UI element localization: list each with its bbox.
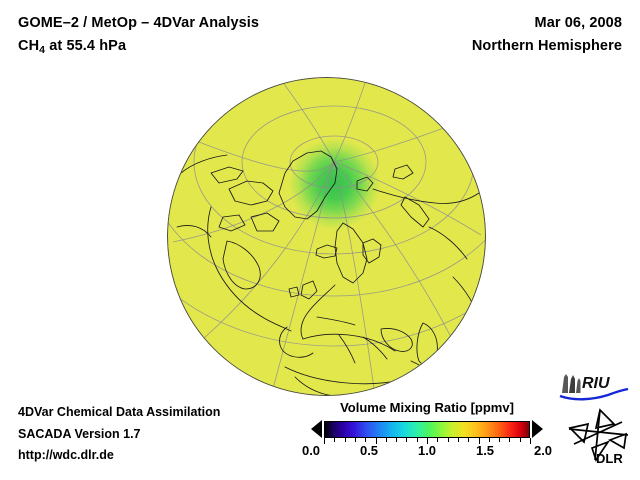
colorbar-tick-minor [458,438,459,442]
species-subscript: 4 [39,44,45,56]
riu-logo: RIU [558,371,630,401]
figure-canvas: GOME–2 / MetOp – 4DVar Analysis CH4 at 5… [0,0,640,480]
globe-disc [167,77,486,396]
dlr-wordmark: DLR [596,451,623,466]
dlr-logo: DLR [566,408,632,466]
colorbar-tick-minor [417,438,418,442]
footer-line-assimilation: 4DVar Chemical Data Assimilation [18,402,220,424]
colorbar-tick-minor [509,438,510,442]
colorbar-tick-label: 2.0 [534,443,552,458]
colorbar-tick-minor [448,438,449,442]
species-label: CH [18,38,39,54]
riu-wordmark: RIU [582,375,610,392]
species-pressure: at 55.4 hPa [45,38,126,54]
colorbar-tick-minor [334,438,335,442]
species-subtitle: CH4 at 55.4 hPa [18,35,259,59]
colorbar-tick-minor [365,438,366,442]
footer-credits: 4DVar Chemical Data Assimilation SACADA … [18,402,220,467]
colorbar-tick-labels: 0.00.51.01.52.0 [311,443,543,461]
header-left: GOME–2 / MetOp – 4DVar Analysis CH4 at 5… [18,12,259,59]
date-label: Mar 06, 2008 [472,12,622,35]
colorbar-row [311,420,543,439]
header-right: Mar 06, 2008 Northern Hemisphere [472,12,622,58]
globe-map [167,77,486,396]
colorbar-tick-label: 1.5 [476,443,494,458]
colorbar-tick-label: 1.0 [418,443,436,458]
page-title: GOME–2 / MetOp – 4DVar Analysis [18,12,259,35]
colorbar-tick-minor [499,438,500,442]
colorbar-tick-minor [396,438,397,442]
colorbar-gradient [324,421,530,438]
colorbar-tick-minor [520,438,521,442]
colorbar-tick-minor [355,438,356,442]
colorbar-tick-label: 0.5 [360,443,378,458]
colorbar-extend-min-icon [311,420,322,438]
footer-line-version: SACADA Version 1.7 [18,424,220,446]
colorbar-tick-minor [386,438,387,442]
riu-towers-icon [562,374,581,393]
globe-edge [167,77,486,396]
colorbar-tick-minor [345,438,346,442]
colorbar-tick-minor [468,438,469,442]
colorbar-tick-label: 0.0 [302,443,320,458]
colorbar: Volume Mixing Ratio [ppmv] 0.00.51.01.52… [311,400,543,461]
colorbar-tick-minor [406,438,407,442]
colorbar-title: Volume Mixing Ratio [ppmv] [311,400,543,415]
region-label: Northern Hemisphere [472,35,622,58]
footer-line-url: http://wdc.dlr.de [18,445,220,467]
colorbar-tick-minor [489,438,490,442]
colorbar-extend-max-icon [532,420,543,438]
colorbar-tick-minor [437,438,438,442]
